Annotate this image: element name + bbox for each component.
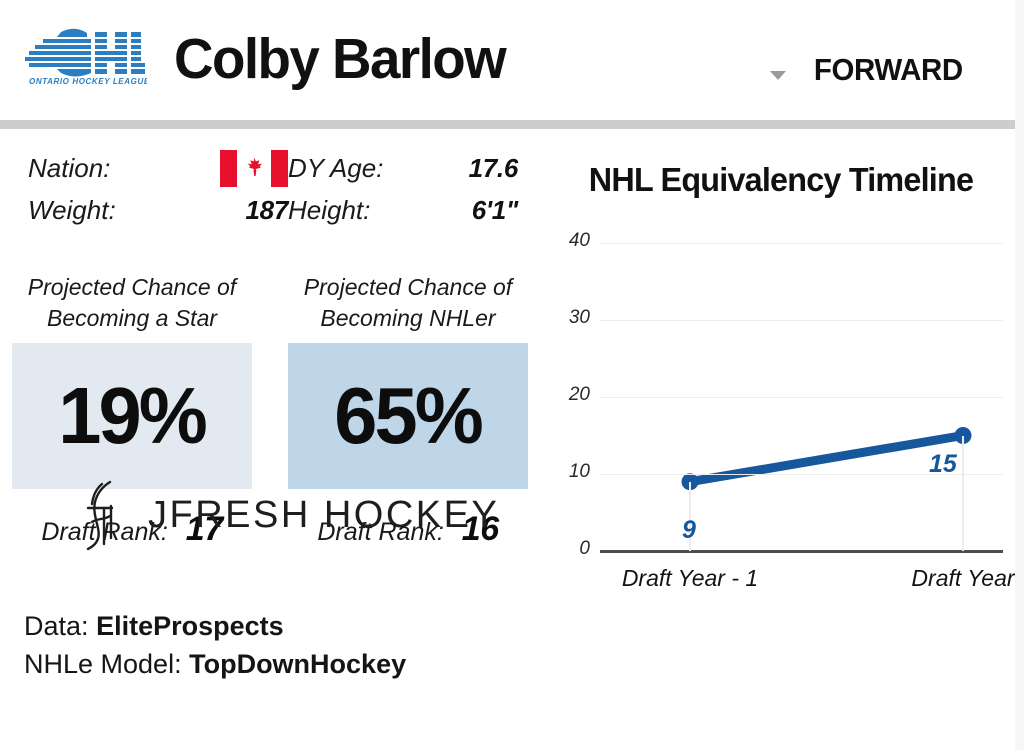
chart-y-tick: 30 (550, 307, 590, 329)
chevron-down-icon[interactable] (770, 71, 786, 80)
bio-value-dy-age: 17.6 (428, 153, 518, 184)
projection-percent-star: 19% (59, 376, 206, 456)
ohl-logo-wordmark: ONTARIO HOCKEY LEAGUE (29, 77, 147, 86)
projection-percent-nhler: 65% (335, 376, 482, 456)
bio-value-weight: 187 (173, 195, 288, 226)
data-source-value: EliteProspects (96, 611, 284, 641)
chart-x-tick: Draft Year - 1 (590, 565, 790, 592)
chart-y-tick: 20 (550, 384, 590, 406)
chart-gridline (600, 320, 1003, 321)
chart-y-tick: 10 (550, 461, 590, 483)
model-source-value: TopDownHockey (189, 649, 406, 679)
jfresh-monogram-icon (80, 478, 126, 552)
bio-label-dy-age: DY Age: (288, 153, 428, 184)
jfresh-wordmark: JFRESH HOCKEY (148, 494, 499, 537)
bio-grid: Nation: DY Age: 17.6 Weight: 187 Height:… (28, 150, 518, 226)
card-header: ONTARIO HOCKEY LEAGUE Colby Barlow FORWA… (0, 0, 1015, 120)
nation-value (173, 150, 288, 187)
bio-label-height: Height: (288, 195, 428, 226)
projection-box-star: 19% (12, 343, 252, 489)
nhl-equivalency-chart: NHL Equivalency Timeline 010203040915Dra… (540, 129, 1015, 750)
projection-title-line1: Projected Chance of (288, 272, 528, 303)
projection-box-nhler: 65% (288, 343, 528, 489)
stats-column: Nation: DY Age: 17.6 Weight: 187 Height:… (0, 129, 540, 750)
chart-gridline (600, 243, 1003, 244)
projection-title-nhler: Projected Chance of Becoming NHLer (288, 272, 528, 334)
model-source-line: NHLe Model: TopDownHockey (24, 645, 406, 683)
bio-value-height: 6'1" (428, 195, 518, 226)
header-divider (0, 120, 1015, 129)
data-source-line: Data: EliteProspects (24, 607, 406, 645)
chart-point-label: 15 (929, 450, 957, 479)
data-source-label: Data: (24, 611, 89, 641)
ohl-logo-icon: ONTARIO HOCKEY LEAGUE (17, 24, 147, 86)
projection-title-line2: Becoming a Star (12, 303, 252, 334)
jfresh-hockey-logo: JFRESH HOCKEY (80, 478, 499, 552)
position-label: FORWARD (814, 52, 963, 88)
chart-y-tick: 40 (550, 230, 590, 252)
projection-title-star: Projected Chance of Becoming a Star (12, 272, 252, 334)
sources-block: Data: EliteProspects NHLe Model: TopDown… (24, 607, 406, 684)
page-title: Colby Barlow (174, 26, 505, 92)
chart-point-stem (962, 436, 964, 552)
model-source-label: NHLe Model: (24, 649, 182, 679)
chart-point-label: 9 (682, 516, 696, 545)
chart-plot-area: 010203040915Draft Year - 1Draft Year (540, 129, 1015, 599)
bio-label-weight: Weight: (28, 195, 173, 226)
canada-flag-icon (220, 150, 288, 187)
player-card: ONTARIO HOCKEY LEAGUE Colby Barlow FORWA… (0, 0, 1024, 750)
chart-x-tick: Draft Year (863, 565, 1024, 592)
chart-gridline (600, 397, 1003, 398)
projection-title-line2: Becoming NHLer (288, 303, 528, 334)
bio-label-nation: Nation: (28, 153, 173, 184)
chart-series-line (540, 129, 1015, 599)
chart-x-axis (600, 550, 1003, 553)
chart-y-tick: 0 (550, 538, 590, 560)
projection-title-line1: Projected Chance of (12, 272, 252, 303)
position-selector[interactable]: FORWARD (770, 52, 963, 88)
